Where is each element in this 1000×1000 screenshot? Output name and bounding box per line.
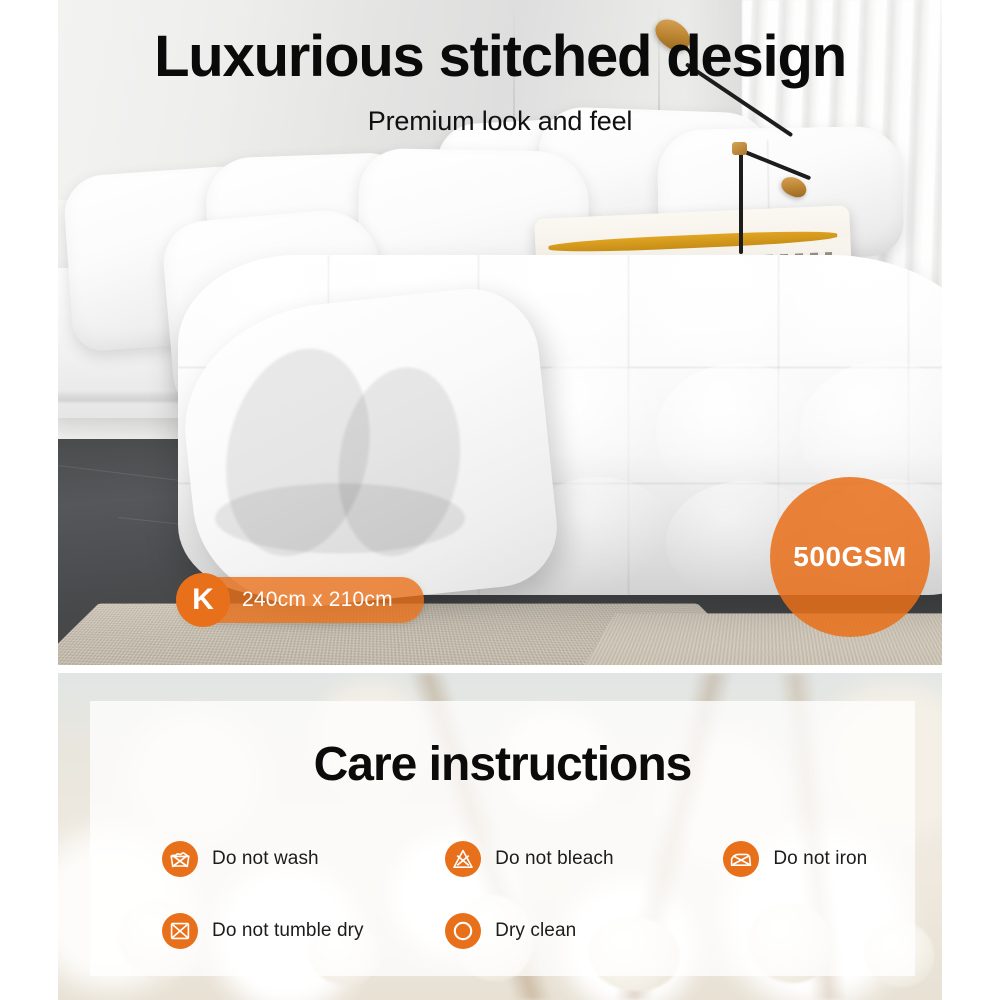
care-title: Care instructions	[90, 741, 915, 789]
page-title: Luxurious stitched design	[58, 28, 942, 86]
hero-image-panel: Luxurious stitched design Premium look a…	[58, 0, 942, 665]
care-item-do-not-bleach: Do not bleach	[445, 841, 723, 877]
dry-clean-icon	[445, 913, 481, 949]
size-letter: K	[192, 585, 214, 615]
do-not-iron-icon	[723, 841, 759, 877]
care-label: Dry clean	[495, 920, 576, 942]
do-not-wash-icon	[162, 841, 198, 877]
care-row: Do not tumble dry Dry clean	[162, 895, 922, 967]
lamp-post	[739, 148, 743, 254]
gsm-badge: 500GSM	[770, 477, 930, 637]
do-not-bleach-icon	[445, 841, 481, 877]
care-item-dry-clean: Dry clean	[445, 913, 723, 949]
product-infographic: Luxurious stitched design Premium look a…	[0, 0, 1000, 1000]
care-label: Do not wash	[212, 848, 319, 870]
care-row: Do not wash Do not bleach	[162, 823, 922, 895]
lamp-joint	[732, 142, 747, 155]
care-label: Do not tumble dry	[212, 920, 364, 942]
care-instructions-panel: Care instructions Do not wash	[58, 673, 942, 1000]
care-item-do-not-iron: Do not iron	[723, 841, 922, 877]
page-subtitle: Premium look and feel	[58, 106, 942, 137]
care-label: Do not iron	[773, 848, 867, 870]
care-item-do-not-wash: Do not wash	[162, 841, 445, 877]
care-label: Do not bleach	[495, 848, 614, 870]
size-badge: K 240cm x 210cm	[179, 577, 424, 623]
size-letter-circle: K	[176, 573, 230, 627]
care-items-grid: Do not wash Do not bleach	[162, 823, 922, 967]
size-dimensions: 240cm x 210cm	[242, 588, 411, 612]
gsm-value: 500GSM	[793, 541, 907, 573]
care-item-do-not-tumble-dry: Do not tumble dry	[162, 913, 445, 949]
do-not-tumble-dry-icon	[162, 913, 198, 949]
care-overlay-card: Care instructions Do not wash	[90, 701, 915, 976]
